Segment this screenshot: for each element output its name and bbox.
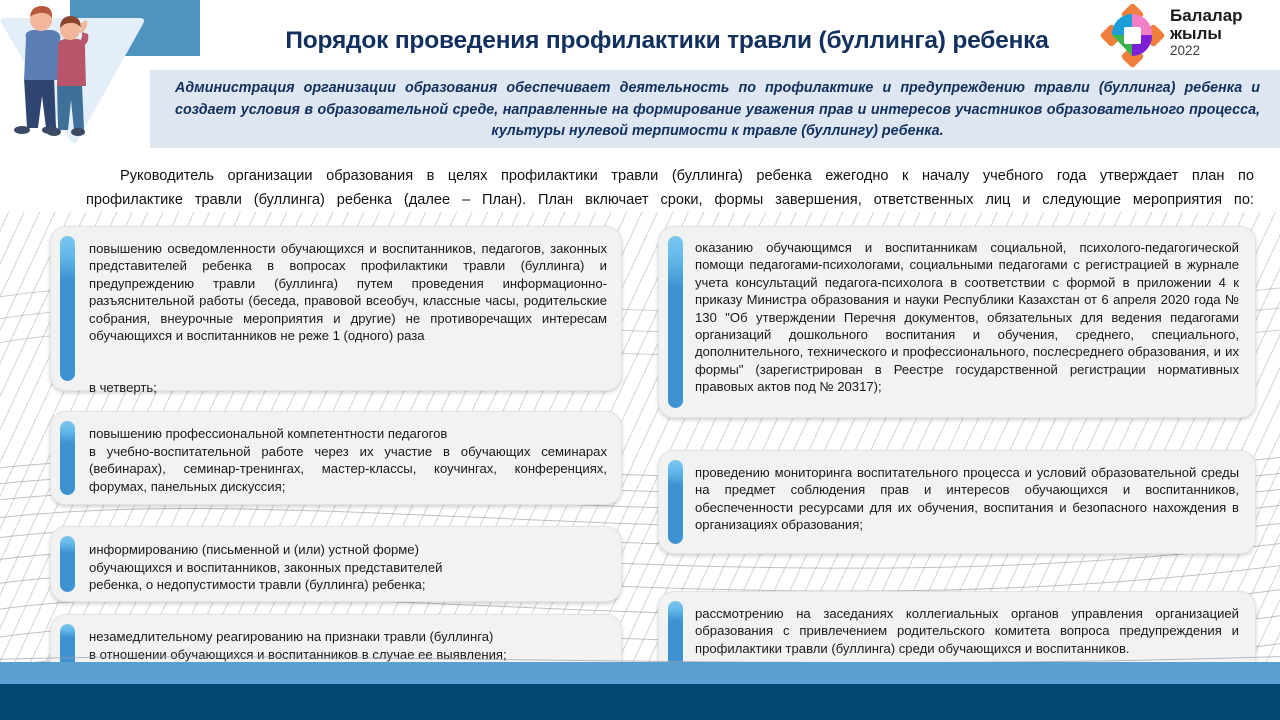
- lead-paragraph: Руководитель организации образования в ц…: [86, 164, 1254, 212]
- intro-paragraph: Администрация организации образования об…: [175, 78, 1260, 143]
- rosette-logo-icon: [1098, 4, 1166, 68]
- list-item[interactable]: повышению профессиональной компетентност…: [50, 411, 622, 505]
- list-item[interactable]: проведению мониторинга воспитательного п…: [658, 450, 1256, 554]
- card-text-line-1: информированию (письменной и (или) устно…: [89, 541, 607, 558]
- card-accent-bar: [60, 236, 75, 381]
- card-text-line-2: обучающихся и воспитанников, законных пр…: [89, 559, 607, 576]
- lead-line-2: профилактике травли (буллинга) ребенка (…: [86, 192, 1254, 208]
- card-text: проведению мониторинга воспитательного п…: [695, 464, 1239, 534]
- card-text-line-1: незамедлительному реагированию на призна…: [89, 628, 607, 645]
- list-item[interactable]: оказанию обучающимся и воспитанникам соц…: [658, 226, 1256, 418]
- balalar-zhyly-logo: Балалар жылы 2022: [1098, 4, 1276, 68]
- card-text: в учебно-воспитательной работе через их …: [89, 443, 607, 495]
- logo-year: 2022: [1170, 43, 1243, 59]
- slide-canvas: Порядок проведения профилактики травли (…: [0, 0, 1280, 720]
- card-accent-bar: [668, 460, 683, 544]
- card-text: оказанию обучающимся и воспитанникам соц…: [695, 239, 1239, 396]
- lead-line-1: Руководитель организации образования в ц…: [86, 164, 1254, 188]
- card-accent-bar: [668, 601, 683, 667]
- list-item[interactable]: информированию (письменной и (или) устно…: [50, 526, 622, 602]
- card-text-line-2: в отношении обучающихся и воспитанников …: [89, 646, 607, 663]
- logo-line-1: Балалар: [1170, 7, 1243, 25]
- card-text: рассмотрению на заседаниях коллегиальных…: [695, 605, 1239, 657]
- card-text-line-1: повышению профессиональной компетентност…: [89, 425, 607, 442]
- card-accent-bar: [60, 421, 75, 495]
- page-title: Порядок проведения профилактики травли (…: [258, 24, 1076, 58]
- card-accent-bar: [60, 536, 75, 592]
- card-text-tail: в четверть;: [89, 379, 607, 396]
- card-accent-bar: [668, 236, 683, 408]
- card-text-line-3: ребенка, о недопустимости травли (буллин…: [89, 576, 607, 593]
- footer-dark-bar: [0, 684, 1280, 720]
- logo-line-2: жылы: [1170, 25, 1243, 43]
- footer-light-bar: [0, 662, 1280, 684]
- list-item[interactable]: повышению осведомленности обучающихся и …: [50, 226, 622, 391]
- card-text: повышению осведомленности обучающихся и …: [89, 240, 607, 344]
